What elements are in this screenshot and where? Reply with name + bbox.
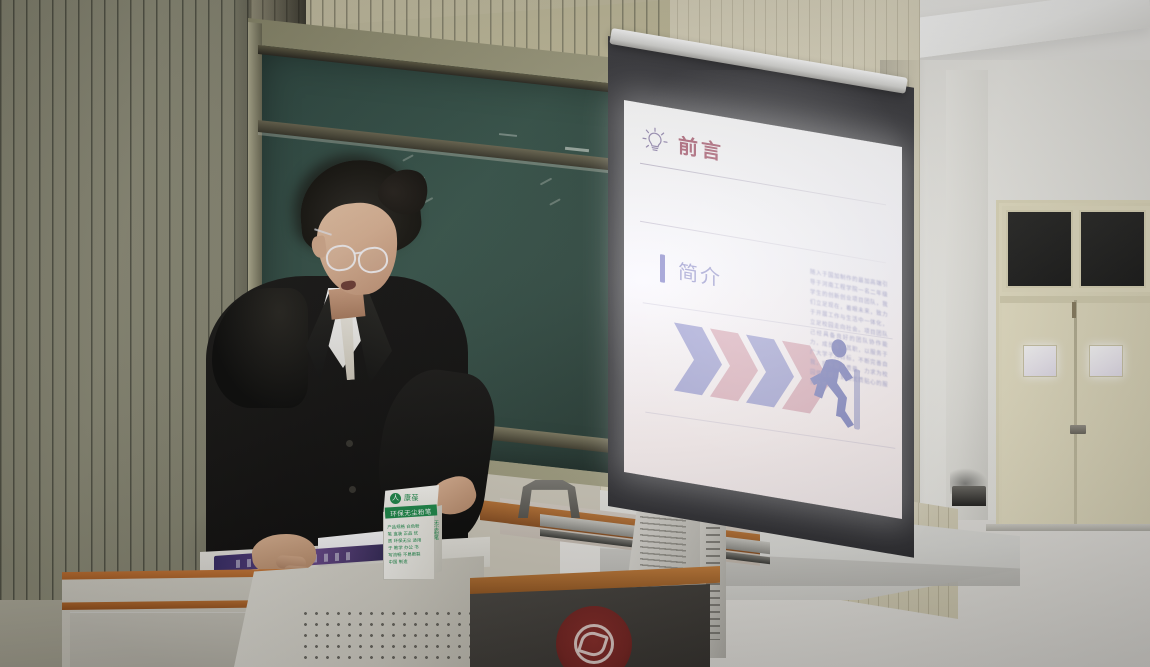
section-accent-bar <box>660 254 665 283</box>
transom-pane-right <box>1079 210 1146 288</box>
door-vision-panel-left <box>1023 345 1057 377</box>
door-transom <box>1002 206 1150 292</box>
chalk-box-logo: 人 康葆 <box>390 490 434 506</box>
floor-scuff-object <box>952 486 986 506</box>
slide-body-text: 随入于国加制作的最加高端引导于河南工程学院一名二年级学生的创新创业项目团队，我们… <box>810 267 888 400</box>
slide-title: 前言 <box>678 129 724 166</box>
lectern-drawer[interactable] <box>70 612 250 667</box>
chalk-box-band-text: 环保无尘粉笔 <box>390 505 432 518</box>
suit-button <box>346 440 353 447</box>
slide-title-rule <box>640 163 886 206</box>
door-bolt[interactable] <box>1072 302 1076 318</box>
door-vision-panel-right <box>1089 345 1123 377</box>
door-center-seam <box>1074 300 1077 528</box>
suit-button <box>349 486 356 493</box>
slide-section-heading: 简介 <box>678 255 722 291</box>
slide-content: 前言 简介 随 <box>624 100 902 519</box>
av-equipment-vents <box>640 510 686 572</box>
chalk-box-brand-name: 康葆 <box>404 493 419 503</box>
door-handle-lock[interactable] <box>1070 425 1086 434</box>
classroom-scene: 前言 简介 随 <box>0 0 1150 667</box>
chalk-box-side-text: 无尘粉笔 <box>424 520 440 572</box>
chalk-box-front-text: 产品规格 白色粉笔 盒装 正品 优质 环保无尘 适用于 教学 办公 书写流畅 不… <box>387 523 422 566</box>
projection-screen: 前言 简介 随 <box>624 100 902 519</box>
lectern-speaker-grille <box>300 608 476 664</box>
lightbulb-icon <box>640 123 670 158</box>
transom-pane-left <box>1006 210 1073 288</box>
chalk-box-brand-mark: 人 <box>390 493 401 504</box>
wall-baseboard <box>986 524 1150 531</box>
slide-secondary-rule <box>640 221 886 264</box>
